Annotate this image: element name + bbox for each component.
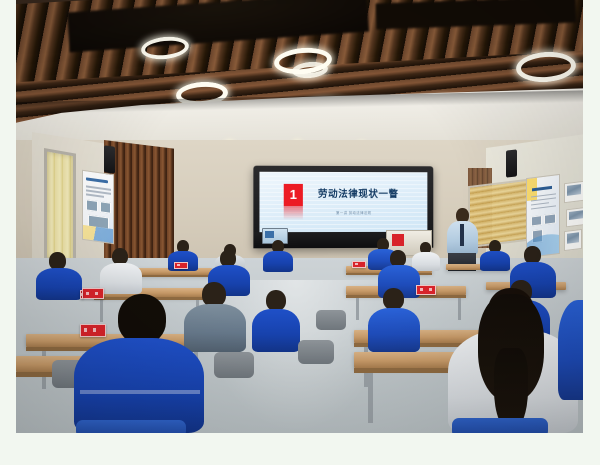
- attendee-14: [368, 288, 420, 352]
- nameplate-1: [174, 262, 188, 269]
- photo-panel-3: [564, 229, 582, 251]
- chair-6: [76, 420, 186, 433]
- desk-leg-3: [356, 298, 359, 320]
- attendee-16-head: [118, 294, 166, 344]
- chair-5: [452, 418, 548, 433]
- page-root: 1 劳动法律现状一瞥 第一讲 劳动法律法规: [0, 0, 600, 465]
- window-left-blinds: [44, 148, 76, 266]
- slide-subtitle: 第一讲 劳动法律法规: [336, 210, 371, 215]
- photo-panel-1: [564, 181, 583, 203]
- attendee-8: [100, 248, 142, 294]
- slide-badge-reflection: [284, 206, 303, 220]
- attendee-3: [263, 240, 293, 272]
- attendee-7: [36, 252, 82, 300]
- attendee-16-uniform: [74, 338, 204, 433]
- slide-surface: 1 劳动法律现状一瞥 第一讲 劳动法律法规: [259, 172, 427, 232]
- attendee-13: [252, 290, 300, 352]
- uniform-reflective-stripe: [80, 390, 200, 394]
- scene-photo: 1 劳动法律现状一瞥 第一讲 劳动法律法规: [16, 0, 583, 433]
- chair-2: [214, 352, 254, 378]
- attendee-18: [558, 300, 583, 400]
- slide-title: 劳动法律现状一瞥: [318, 186, 399, 200]
- slide-badge-number: 1: [284, 184, 303, 206]
- instructor-tie: [460, 224, 464, 246]
- attendee-6: [480, 240, 510, 270]
- chair-3: [298, 340, 334, 364]
- wall-speaker-left: [104, 145, 115, 174]
- nameplate-2: [352, 261, 366, 268]
- desk-leg-9: [368, 373, 373, 423]
- wall-speaker-right: [506, 149, 517, 177]
- information-poster-left: [82, 170, 114, 244]
- instructor: [444, 208, 480, 270]
- photo-panel-2: [566, 207, 583, 228]
- chair-4: [316, 310, 346, 330]
- attendee-16: [74, 294, 204, 433]
- desk-row1-left-edge: [134, 275, 212, 277]
